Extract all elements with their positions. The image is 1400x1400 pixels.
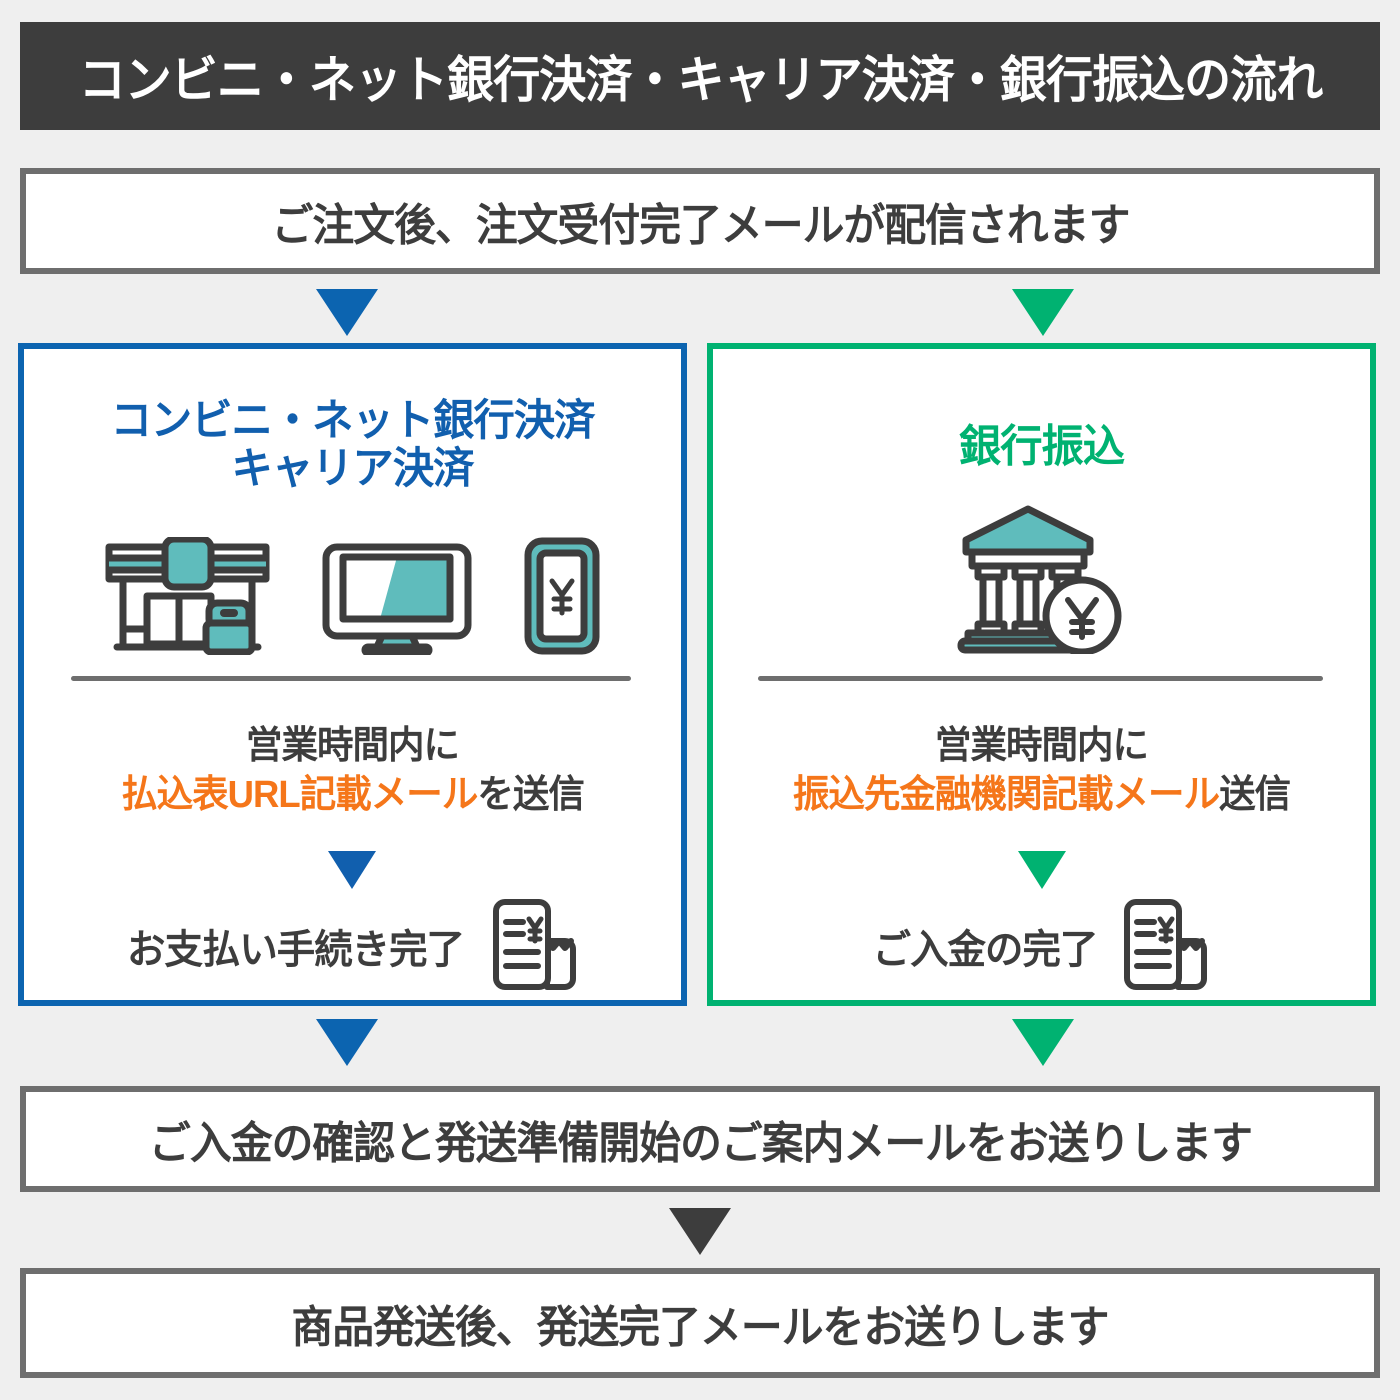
step-box-shipped: 商品発送後、発送完了メールをお送りします [20,1268,1380,1378]
bank-notice-highlight: 振込先金融機関記載メール [793,774,1219,816]
convenience-icon-row [24,535,681,655]
arrow-down-convenience-completion-icon [328,851,376,889]
arrow-down-to-shipped-icon [669,1208,731,1255]
bank-divider [758,676,1323,681]
smartphone-yen-icon [524,537,600,655]
panel-bank-heading: 銀行振込 [726,422,1357,471]
arrow-down-bank-completion-icon [1018,851,1066,889]
bank-icon-row [713,504,1370,654]
desktop-monitor-icon [322,543,472,655]
bank-notice-suffix: 送信 [1219,774,1290,816]
receipt-yen-icon [485,897,585,995]
panel-convenience-payment: コンビニ・ネット銀行決済 キャリア決済 [18,343,687,1006]
convenience-notice-highlight: 払込表URL記載メール [121,774,477,816]
step-box-payment-confirmed: ご入金の確認と発送準備開始のご案内メールをお送りします [20,1086,1380,1192]
panel-convenience-heading-line2: キャリア決済 [232,445,474,493]
panel-convenience-heading: コンビニ・ネット銀行決済 キャリア決済 [37,397,668,493]
arrow-down-to-convenience-icon [316,289,378,336]
step-shipped-label: 商品発送後、発送完了メールをお送りします [292,1291,1109,1355]
bank-building-yen-icon [954,504,1129,654]
step-box-order-received: ご注文後、注文受付完了メールが配信されます [20,168,1380,274]
bank-notice-line1: 営業時間内に [935,725,1148,767]
panel-convenience-heading-line1: コンビニ・ネット銀行決済 [111,397,595,445]
convenience-divider [71,676,631,681]
convenience-store-icon [105,537,270,655]
convenience-notice-line1: 営業時間内に [246,725,459,767]
diagram-header: コンビニ・ネット銀行決済・キャリア決済・銀行振込の流れ [20,22,1380,130]
arrow-down-from-bank-icon [1012,1019,1074,1066]
panel-bank-heading-line1: 銀行振込 [959,422,1124,471]
flow-diagram-page: コンビニ・ネット銀行決済・キャリア決済・銀行振込の流れ ご注文後、注文受付完了メ… [0,0,1400,1400]
arrow-down-from-convenience-icon [316,1019,378,1066]
convenience-notice: 営業時間内に 払込表URL記載メールを送信 [37,722,668,819]
panel-bank-transfer: 銀行振込 [707,343,1376,1006]
bank-notice: 営業時間内に 振込先金融機関記載メール送信 [726,722,1357,819]
convenience-notice-suffix: を送信 [477,774,584,816]
step-payment-confirmed-label: ご入金の確認と発送準備開始のご案内メールをお送りします [149,1107,1252,1171]
arrow-down-to-bank-icon [1012,289,1074,336]
step-order-received-label: ご注文後、注文受付完了メールが配信されます [271,189,1129,253]
convenience-completion-label: お支払い手続き完了 [127,917,464,975]
bank-completion-label: ご入金の完了 [872,917,1097,975]
bank-completion-row: ご入金の完了 [713,897,1370,995]
receipt-yen-icon [1116,897,1216,995]
diagram-title: コンビニ・ネット銀行決済・キャリア決済・銀行振込の流れ [78,40,1322,112]
convenience-completion-row: お支払い手続き完了 [24,897,681,995]
